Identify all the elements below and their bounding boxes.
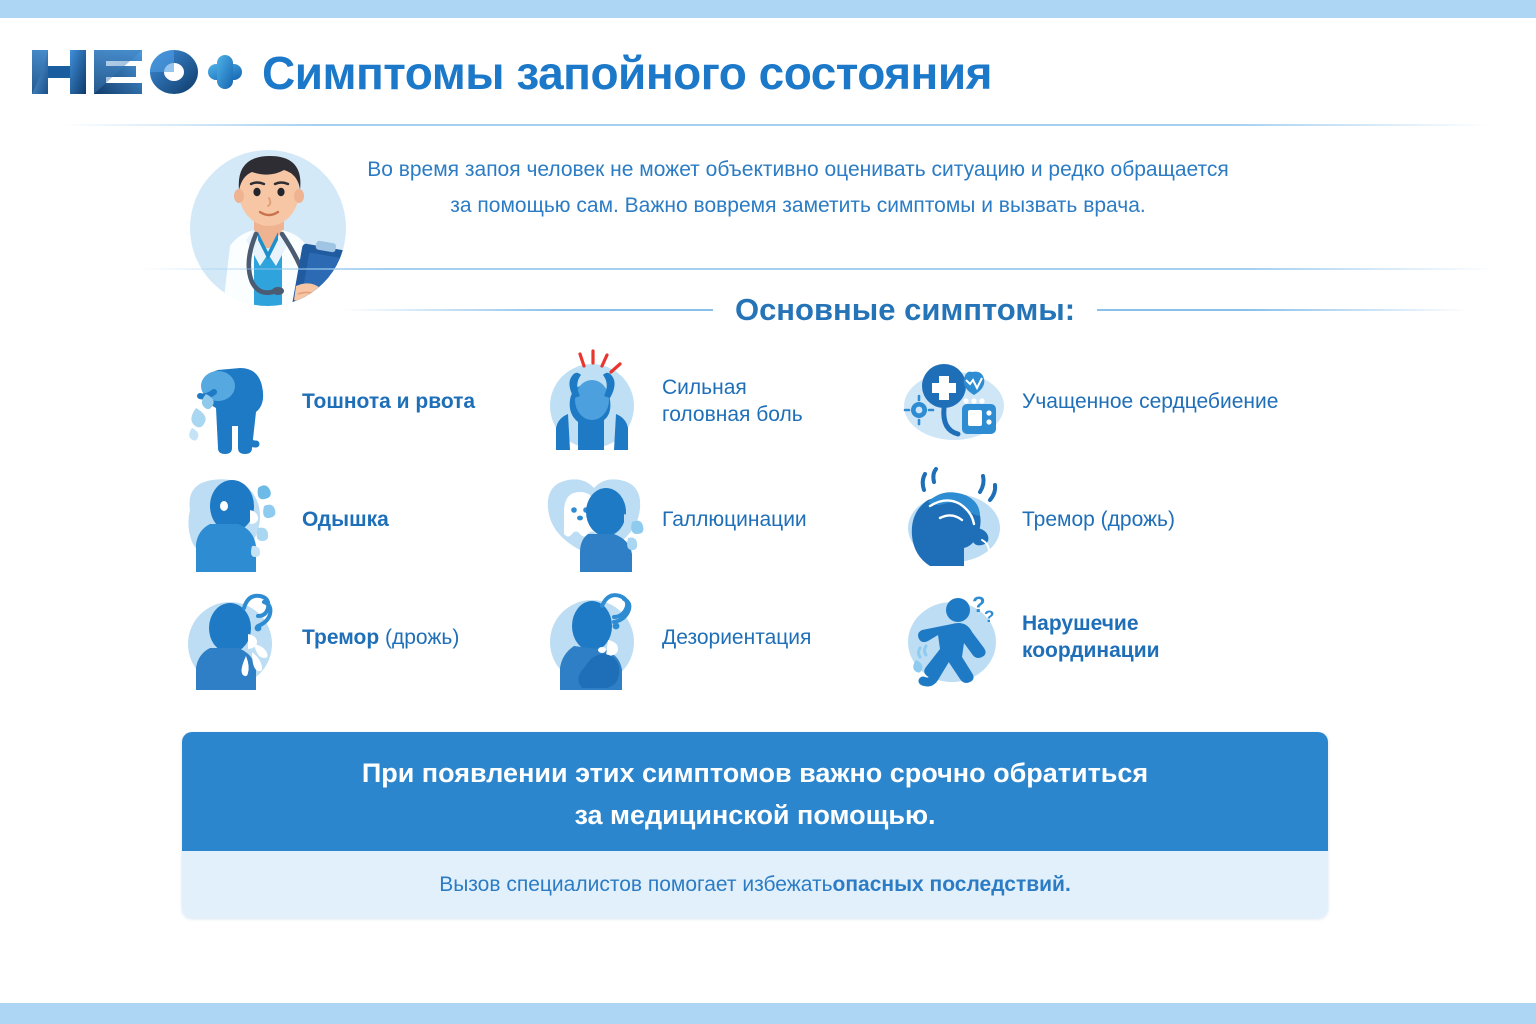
hallucination-ghost-icon <box>540 466 650 572</box>
symptom-label-tremor-head: Тремор (дрожь) <box>1022 506 1175 533</box>
symptom-label-hallucinations: Галлюцинации <box>662 506 807 533</box>
symptom-label-headache: Сильная головная боль <box>662 374 803 428</box>
callout-headline: При появлении этих симптомов важно срочн… <box>182 732 1328 851</box>
symptoms-grid: Тошнота и рвота <box>180 342 1340 702</box>
page-title: Симптомы запойного состояния <box>262 44 1262 102</box>
intro-text: Во время запоя человек не может объектив… <box>318 152 1278 224</box>
symptom-item-hallucinations: Галлюцинации <box>540 460 900 578</box>
infographic-page: Симптомы запойного состояния <box>0 0 1536 1024</box>
symptom-label-coordination: Нарушечие координации <box>1022 610 1160 664</box>
header-divider <box>60 124 1490 126</box>
callout-headline-line-1: При появлении этих симптомов важно срочн… <box>362 752 1148 794</box>
top-accent-band <box>0 0 1536 18</box>
heart-monitor-icon <box>900 348 1010 454</box>
header: Симптомы запойного состояния <box>0 18 1536 124</box>
symptom-item-tremor: Тремор (дрожь) <box>180 578 540 696</box>
neo-plus-logo <box>28 44 242 100</box>
callout-footnote-bold: опасных последствий. <box>833 870 1071 900</box>
symptom-label-tachycardia: Учащенное сердцебиение <box>1022 388 1278 415</box>
shortness-of-breath-icon <box>180 466 290 572</box>
symptom-label-dyspnea: Одышка <box>302 506 389 533</box>
section-rule-right <box>1097 309 1470 311</box>
callout-footnote-plain: Вызов специалистов помогает избежать <box>439 870 832 900</box>
section-title: Основные симптомы: <box>735 292 1075 328</box>
symptom-item-tremor-head: Тремор (дрожь) <box>900 460 1340 578</box>
symptom-item-coordination: ? ? Нарушечие координации <box>900 578 1340 696</box>
symptom-item-tachycardia: Учащенное сердцебиение <box>900 342 1340 460</box>
neo-plus-logo-icon <box>28 44 242 100</box>
disorientation-icon <box>540 584 650 690</box>
callout-footnote: Вызов специалистов помогает избежать опа… <box>182 851 1328 918</box>
symptom-item-headache: Сильная головная боль <box>540 342 900 460</box>
callout-banner: При появлении этих симптомов важно срочн… <box>182 732 1328 918</box>
intro-line-1: Во время запоя человек не может объектив… <box>318 152 1278 188</box>
symptom-label-disorientation: Дезориентация <box>662 624 811 651</box>
symptom-label-nausea: Тошнота и рвота <box>302 388 475 415</box>
callout-headline-line-2: за медицинской помощью. <box>574 794 935 836</box>
symptom-item-disorientation: Дезориентация <box>540 578 900 696</box>
vomiting-person-icon <box>180 348 290 454</box>
intro-divider <box>140 268 1496 270</box>
section-header: Основные симптомы: <box>340 286 1470 334</box>
symptom-item-dyspnea: Одышка <box>180 460 540 578</box>
coordination-walking-icon: ? ? <box>900 584 1010 690</box>
headache-person-icon <box>540 348 650 454</box>
svg-text:?: ? <box>984 607 994 626</box>
intro-line-2: за помощью сам. Важно вовремя заметить с… <box>318 188 1278 224</box>
section-rule-left <box>340 309 713 311</box>
bottom-accent-band <box>0 1003 1536 1024</box>
symptom-item-nausea: Тошнота и рвота <box>180 342 540 460</box>
symptom-label-tremor: Тремор (дрожь) <box>302 624 459 651</box>
tremor-shaking-icon <box>180 584 290 690</box>
tremor-head-hands-icon <box>900 466 1010 572</box>
